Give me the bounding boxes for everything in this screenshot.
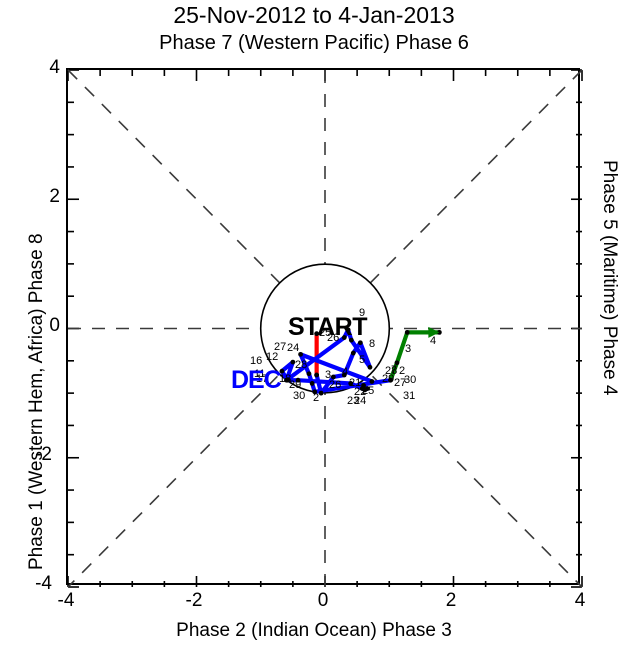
day-label: 29: [382, 373, 394, 385]
day-label: 2: [313, 392, 319, 404]
day-label: 28: [295, 359, 307, 371]
track-point: [405, 330, 410, 335]
day-label: 4: [430, 335, 436, 347]
x-axis-label: Phase 2 (Indian Ocean) Phase 3: [0, 620, 628, 642]
x-tick-0: -4: [46, 590, 86, 612]
day-label: 12: [266, 351, 278, 363]
track-point: [370, 379, 375, 384]
track-point: [351, 351, 356, 356]
day-label: 24: [354, 395, 366, 407]
y-tick-4: -4: [22, 573, 52, 595]
track-point: [319, 391, 324, 396]
day-label: 30: [404, 374, 416, 386]
track-point: [307, 371, 312, 376]
month-annotation: DEC: [231, 366, 281, 395]
x-tick-3: 2: [431, 590, 471, 612]
day-label: 5: [359, 354, 365, 366]
y-tick-1: 2: [30, 186, 60, 208]
x-tick-4: 4: [560, 590, 600, 612]
y-tick-0: 4: [30, 57, 60, 79]
day-label: 2: [399, 365, 405, 377]
day-label: 30: [293, 390, 305, 402]
day-label: 4: [342, 366, 348, 378]
x-tick-1: -2: [174, 590, 214, 612]
day-label: 26: [329, 379, 341, 391]
day-label: 3: [405, 343, 411, 355]
day-label: 24: [287, 342, 299, 354]
x-tick-2: 0: [303, 590, 343, 612]
chart-subtitle: Phase 7 (Western Pacific) Phase 6: [0, 32, 628, 55]
y-axis-label-right: Phase 5 (Maritime) Phase 4: [598, 160, 620, 396]
track-point: [310, 381, 315, 386]
chart-title: 25-Nov-2012 to 4-Jan-2013: [0, 2, 628, 29]
start-annotation: START: [288, 313, 367, 342]
day-label: 8: [369, 338, 375, 350]
day-label: 31: [403, 390, 415, 402]
y-tick-3: -2: [22, 444, 52, 466]
mjo-phase-diagram: 25-Nov-2012 to 4-Jan-2013 Phase 7 (Weste…: [0, 0, 628, 653]
track-point: [314, 373, 319, 378]
y-axis-label-left: Phase 1 (Western Hem, Africa) Phase 8: [26, 233, 48, 570]
y-tick-2: 0: [30, 315, 60, 337]
track-point: [368, 365, 373, 370]
